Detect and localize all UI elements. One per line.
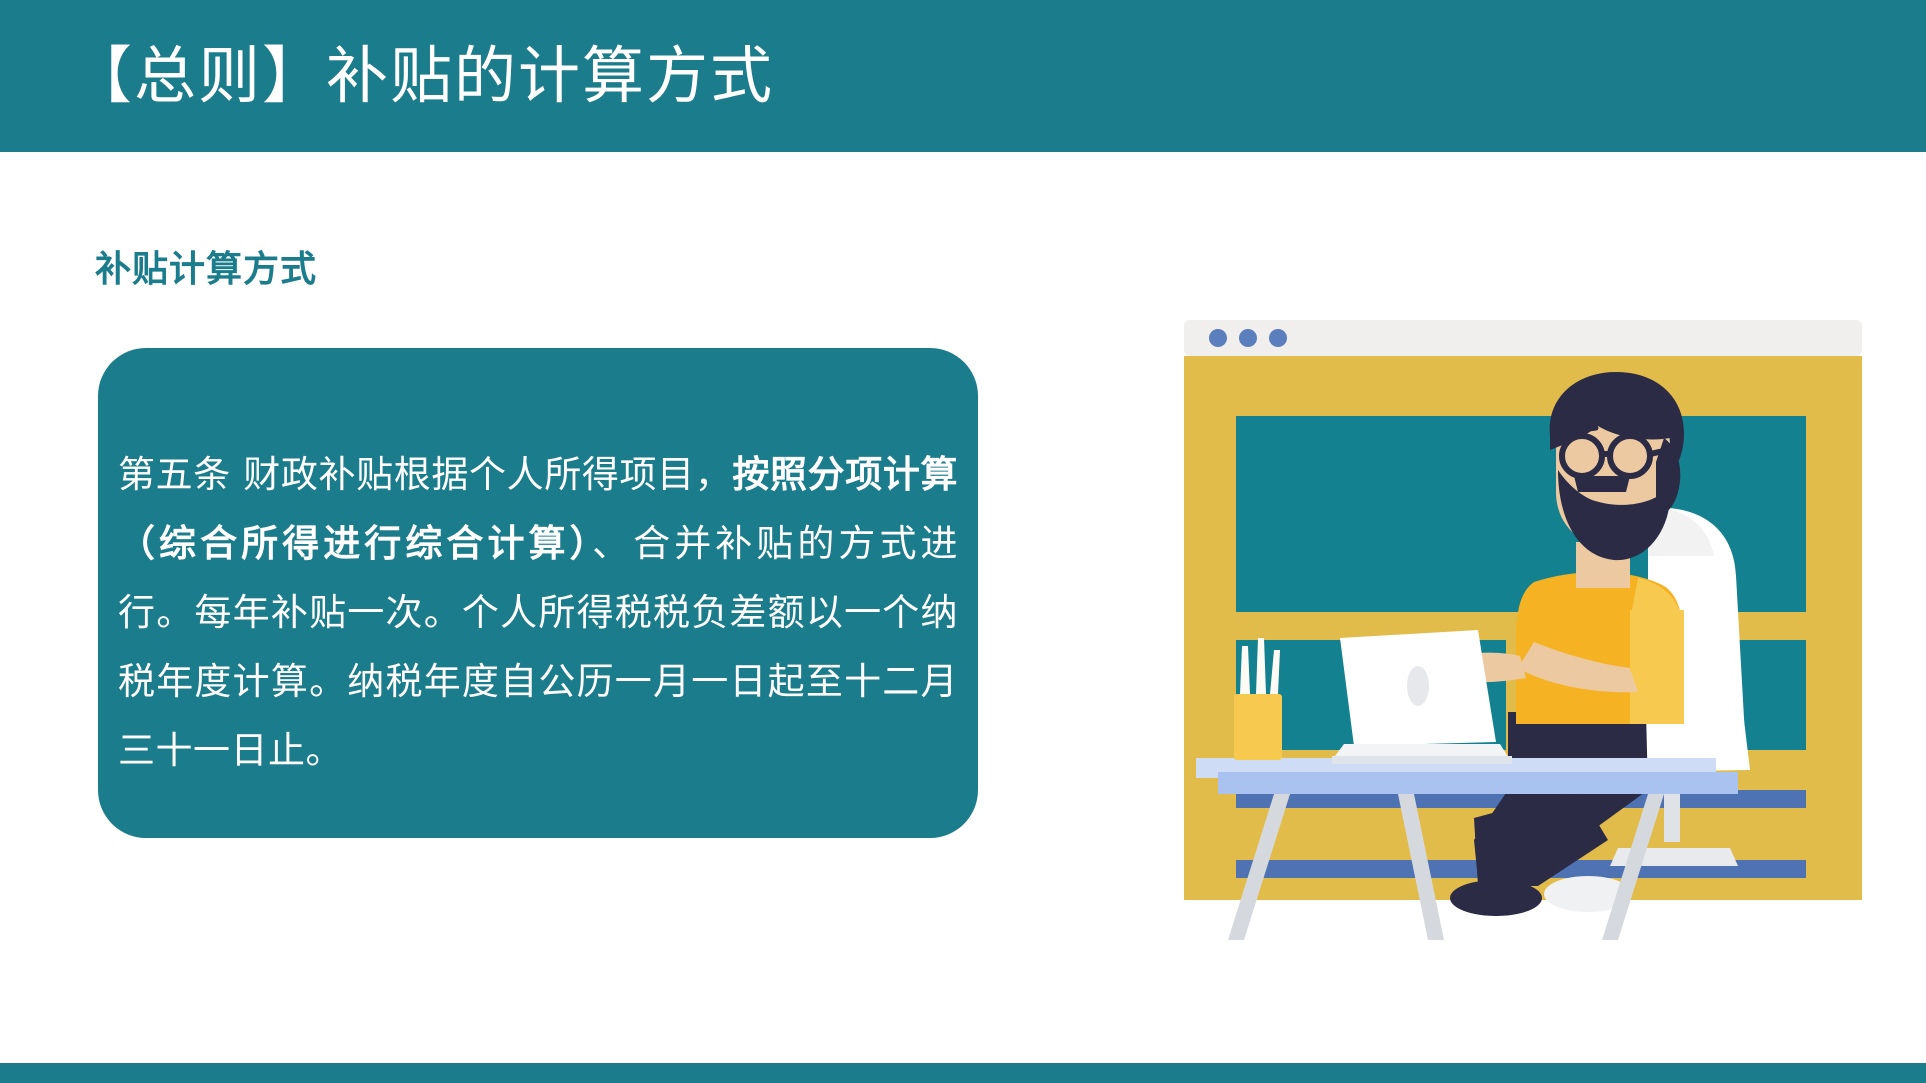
paragraph-lead: 第五条 财政补贴根据个人所得项目，: [118, 453, 732, 496]
person-shoe: [1450, 880, 1542, 916]
browser-dot-icon: [1239, 329, 1257, 347]
desk-top-front: [1218, 772, 1738, 794]
header-underline: [0, 152, 1926, 160]
pencil-cup: [1234, 694, 1282, 760]
browser-dot-icon: [1209, 329, 1227, 347]
body-paragraph: 第五条 财政补贴根据个人所得项目，按照分项计算（综合所得进行综合计算）、合并补贴…: [118, 440, 958, 785]
section-subtitle: 补贴计算方式: [95, 240, 317, 292]
glasses-temple-icon: [1650, 450, 1668, 454]
browser-dot-icon: [1269, 329, 1287, 347]
laptop-base-shadow: [1332, 756, 1512, 764]
laptop-logo-icon: [1407, 666, 1429, 706]
slide-root: 【总则】补贴的计算方式 补贴计算方式 第五条 财政补贴根据个人所得项目，按照分项…: [0, 0, 1926, 1083]
person-sleeve: [1630, 610, 1684, 672]
illustration-man-at-desk: [1178, 320, 1868, 940]
page-title: 【总则】补贴的计算方式: [70, 22, 774, 130]
footer-bar: [0, 1063, 1926, 1083]
